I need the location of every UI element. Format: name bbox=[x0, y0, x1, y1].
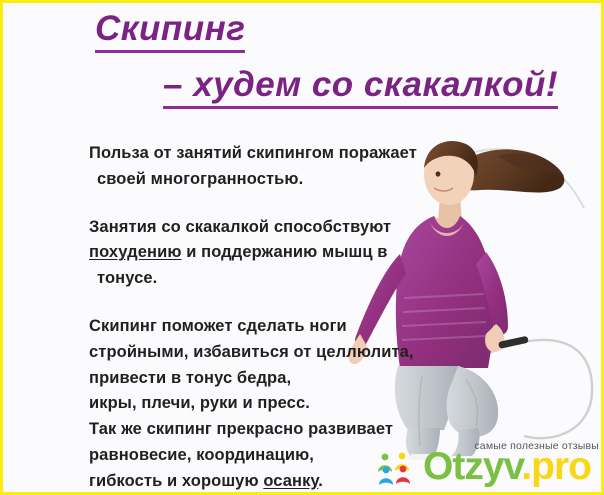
underlined-term: осанку bbox=[263, 472, 318, 490]
body-line: Скипинг поможет сделать ноги bbox=[89, 314, 419, 340]
title-line-1-row: Скипинг bbox=[95, 9, 245, 53]
logo-word-secondary: .pro bbox=[521, 445, 591, 488]
paragraph-2: Занятия со скакалкой способствуют похуде… bbox=[89, 215, 419, 292]
body-line: своей многогранностью. bbox=[89, 167, 419, 193]
logo-wordmark: Otzyv.pro bbox=[423, 446, 591, 488]
body-line: икры, плечи, руки и пресс. bbox=[89, 391, 419, 417]
underlined-term: похудению bbox=[89, 243, 182, 261]
title-line-1: Скипинг bbox=[95, 9, 245, 53]
body-line-start: гибкость и хорошую bbox=[89, 472, 263, 490]
raised-thigh bbox=[447, 366, 499, 437]
site-logo[interactable]: самые полезные отзывы Otzyv.pro bbox=[375, 442, 601, 488]
body-line-with-underline: гибкость и хорошую осанку. bbox=[89, 469, 419, 495]
four-people-icon bbox=[375, 450, 417, 486]
title-line-2-row: – худем со скакалкой! bbox=[163, 65, 558, 109]
body-line-rest: и поддержанию мышц в bbox=[182, 243, 388, 261]
body-line: Так же скипинг прекрасно развивает bbox=[89, 417, 419, 443]
body-line-with-underline: похудению и поддержанию мышц в bbox=[89, 240, 419, 266]
body-copy: Польза от занятий скипингом поражает сво… bbox=[89, 141, 419, 495]
logo-word-primary: Otzyv bbox=[423, 445, 521, 488]
body-line: стройными, избавиться от целлюлита, bbox=[89, 340, 419, 366]
eye bbox=[436, 171, 441, 176]
poster-canvas: Скипинг – худем со скакалкой! Польза от … bbox=[0, 0, 604, 495]
body-line: привести в тонус бедра, bbox=[89, 366, 419, 392]
body-line: Занятия со скакалкой способствуют bbox=[89, 215, 419, 241]
title-line-2: – худем со скакалкой! bbox=[163, 65, 558, 109]
paragraph-3: Скипинг поможет сделать ноги стройными, … bbox=[89, 314, 419, 495]
body-line: Польза от занятий скипингом поражает bbox=[89, 141, 419, 167]
body-line: равновесие, координацию, bbox=[89, 443, 419, 469]
body-line: тонусе. bbox=[89, 266, 419, 292]
paragraph-1: Польза от занятий скипингом поражает сво… bbox=[89, 141, 419, 193]
body-line-end: . bbox=[318, 472, 323, 490]
